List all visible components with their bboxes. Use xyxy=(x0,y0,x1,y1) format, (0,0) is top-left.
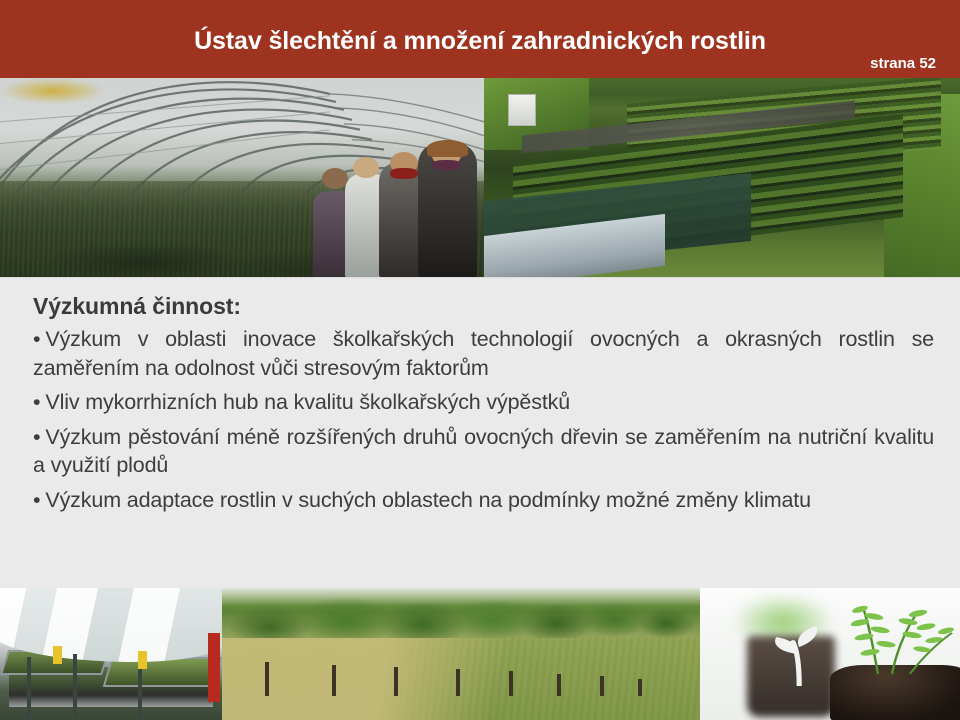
bench-leg xyxy=(73,654,77,720)
list-item-text: Výzkum v oblasti inovace školkařských te… xyxy=(33,327,934,380)
tree-trunk xyxy=(600,676,604,696)
visitor-group xyxy=(310,138,484,277)
list-item: •Vliv mykorrhizních hub na kvalitu školk… xyxy=(33,388,934,417)
seedling-plant-icon xyxy=(830,593,960,675)
meadow-grass xyxy=(222,638,700,720)
content-panel: Výzkumná činnost: •Výzkum v oblasti inov… xyxy=(0,277,960,588)
yellow-label-tag xyxy=(138,651,147,669)
bottom-photo-strip xyxy=(0,588,960,720)
plastic-cover xyxy=(0,588,222,662)
site-cabin xyxy=(508,94,536,126)
seedling-trays-photo xyxy=(0,588,222,720)
bullet-marker-icon: • xyxy=(33,327,40,351)
bullet-marker-icon: • xyxy=(33,488,40,512)
list-item: •Výzkum v oblasti inovace školkařských t… xyxy=(33,325,934,382)
list-item-text: Vliv mykorrhizních hub na kvalitu školka… xyxy=(45,390,570,414)
red-marker-strip xyxy=(208,633,220,702)
orchard-rows-photo xyxy=(222,588,700,720)
page-title: Ústav šlechtění a množení zahradnických … xyxy=(0,26,960,56)
list-item: •Výzkum pěstování méně rozšířených druhů… xyxy=(33,423,934,480)
section-heading: Výzkumná činnost: xyxy=(33,291,934,321)
tree-trunk xyxy=(456,669,460,697)
bullet-marker-icon: • xyxy=(33,425,40,449)
background-pot xyxy=(747,636,835,718)
tree-trunk xyxy=(265,662,269,696)
yellow-label-tag xyxy=(53,646,62,664)
tree-trunk xyxy=(332,665,336,697)
tree-trunk xyxy=(638,679,642,696)
greenhouse-tour-photo xyxy=(0,78,484,277)
potted-seedling-photo xyxy=(700,588,960,720)
list-item: •Výzkum adaptace rostlin v suchých oblas… xyxy=(33,486,934,515)
flowering-plants-area xyxy=(0,78,106,104)
list-item-text: Výzkum pěstování méně rozšířených druhů … xyxy=(33,425,934,478)
tree-trunk xyxy=(394,667,398,696)
aerial-nursery-photo xyxy=(484,78,960,277)
tree-trunk xyxy=(557,674,561,696)
bullet-marker-icon: • xyxy=(33,390,40,414)
slide-header: Ústav šlechtění a množení zahradnických … xyxy=(0,0,960,78)
tree-trunk xyxy=(509,671,513,696)
bench-leg xyxy=(27,657,31,720)
panel-top-edge xyxy=(0,277,960,278)
research-activity-list: •Výzkum v oblasti inovace školkařských t… xyxy=(33,325,934,514)
list-item-text: Výzkum adaptace rostlin v suchých oblast… xyxy=(45,488,811,512)
page-number: strana 52 xyxy=(870,55,936,73)
top-photo-strip xyxy=(0,78,960,277)
slide: Ústav šlechtění a množení zahradnických … xyxy=(0,0,960,720)
